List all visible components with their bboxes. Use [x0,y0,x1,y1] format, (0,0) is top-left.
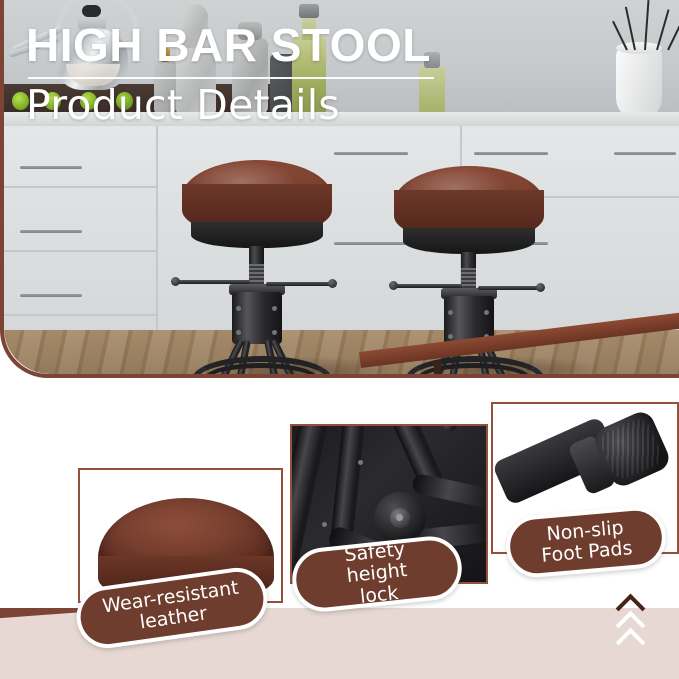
chevron-up-icon[interactable] [616,615,642,628]
chevron-up-icon[interactable] [616,632,642,645]
cabinet-handle [614,152,676,155]
cabinet-handle [20,166,82,169]
cabinet-seam [156,126,158,330]
page-subtitle: Product Details [26,83,626,127]
cabinet-handle [20,294,82,297]
feature-label-text: Non-slip Foot Pads [539,517,634,567]
feature-label-text: Wear-resistant leather [101,577,243,638]
scroll-up-chevrons[interactable] [616,598,658,660]
page-title: HIGH BAR STOOL [26,22,626,68]
cabinet-seam [4,250,156,252]
counter-rail-post [434,360,441,374]
cabinet-handle [334,152,408,155]
chevron-up-icon[interactable] [616,598,642,611]
cabinet-seam [4,186,156,188]
bar-stool-left [182,160,412,374]
oil-pourer-icon [299,4,319,18]
cabinet-seam [4,314,156,316]
feature-label-text: Safety height lock [311,536,443,613]
page-heading: HIGH BAR STOOL Product Details [26,22,626,127]
product-detail-page: HIGH BAR STOOL Product Details Wear-resi… [0,0,679,679]
cabinet-handle [474,152,548,155]
title-divider [28,77,434,79]
cabinet-handle [20,230,82,233]
